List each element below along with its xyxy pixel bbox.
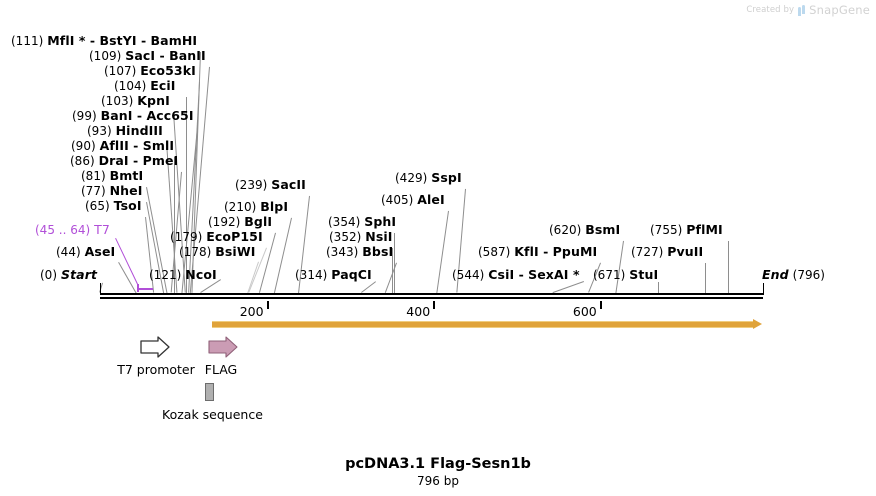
enzyme-position: (104) xyxy=(114,79,146,93)
enzyme-name: TsoI xyxy=(114,198,142,213)
enzyme-position: (99) xyxy=(72,109,97,123)
end-name: End xyxy=(762,267,789,282)
enzyme-position: (121) xyxy=(149,268,181,282)
leader-line xyxy=(728,241,729,293)
leader-line xyxy=(553,281,584,293)
enzyme-label-tsoi[interactable]: (65) TsoI xyxy=(85,200,142,213)
enzyme-label-bsmi[interactable]: (620) BsmI xyxy=(549,224,620,237)
enzyme-name: SexAI * xyxy=(528,267,579,282)
enzyme-label-ecii[interactable]: (104) EciI xyxy=(114,80,176,93)
enzyme-name: SmlI xyxy=(143,138,174,153)
enzyme-label-pvuii[interactable]: (727) PvuII xyxy=(631,246,703,259)
enzyme-position: (352) xyxy=(329,230,361,244)
ruler-tick-label: 600 xyxy=(573,304,600,319)
feature-label-kozak-sequence: Kozak sequence xyxy=(162,407,258,422)
enzyme-name: SacI xyxy=(125,48,155,63)
enzyme-label-bgli[interactable]: (192) BglI xyxy=(208,216,272,229)
enzyme-name: BanI xyxy=(101,108,133,123)
enzyme-name: SspI xyxy=(431,170,461,185)
enzyme-label-stui[interactable]: (671) StuI xyxy=(593,269,658,282)
enzyme-name: KpnI xyxy=(137,93,170,108)
enzyme-label-mfli[interactable]: (111) MflI * - BstYI - BamHI xyxy=(11,35,197,48)
enzyme-label-drai[interactable]: (86) DraI - PmeI xyxy=(70,155,178,168)
enzyme-label-nhei[interactable]: (77) NheI xyxy=(81,185,143,198)
enzyme-label-t7[interactable]: (45 .. 64) T7 xyxy=(35,224,110,237)
end-position: (796) xyxy=(793,268,825,282)
enzyme-position: (314) xyxy=(295,268,327,282)
enzyme-name: PpuMI xyxy=(553,244,598,259)
watermark-brand-label: SnapGene xyxy=(809,3,870,17)
enzyme-position: (587) xyxy=(478,245,510,259)
leader-line xyxy=(436,211,449,293)
enzyme-name: AleI xyxy=(417,192,445,207)
enzyme-position: (755) xyxy=(650,223,682,237)
feature-segment-t7-tick xyxy=(137,284,139,292)
backbone-bottom-strand xyxy=(100,297,763,299)
enzyme-label-kfli[interactable]: (587) KflI - PpuMI xyxy=(478,246,597,259)
enzyme-label-csii[interactable]: (544) CsiI - SexAI * xyxy=(452,269,580,282)
sequence-backbone xyxy=(100,293,763,299)
enzyme-label-pflmi[interactable]: (755) PflMI xyxy=(650,224,723,237)
enzyme-position: (429) xyxy=(395,171,427,185)
leader-line xyxy=(385,263,397,293)
leader-line xyxy=(615,241,624,293)
enzyme-label-ncoi[interactable]: (121) NcoI xyxy=(149,269,217,282)
enzyme-position: (544) xyxy=(452,268,484,282)
enzyme-name: BanII xyxy=(169,48,206,63)
kozak-sequence-block xyxy=(205,383,214,401)
enzyme-label-saci[interactable]: (109) SacI - BanII xyxy=(89,50,206,63)
enzyme-name: NsiI xyxy=(365,229,392,244)
enzyme-name: StuI xyxy=(629,267,658,282)
enzyme-position: (210) xyxy=(224,200,256,214)
enzyme-name: MflI * xyxy=(47,33,85,48)
enzyme-label-eco53ki[interactable]: (107) Eco53kI xyxy=(104,65,196,78)
enzyme-label-ecop15i[interactable]: (179) EcoP15I xyxy=(170,231,263,244)
enzyme-name: AseI xyxy=(85,244,116,259)
enzyme-label-aflii[interactable]: (90) AflII - SmlI xyxy=(71,140,174,153)
ruler-tick xyxy=(433,301,435,309)
enzyme-name: EcoP15I xyxy=(206,229,262,244)
snapgene-watermark: Created by SnapGene xyxy=(746,3,870,17)
enzyme-name: BamHI xyxy=(151,33,198,48)
sequence-start-label: (0) Start xyxy=(40,269,97,282)
enzyme-position: (45 .. 64) xyxy=(35,223,90,237)
enzyme-label-paqci[interactable]: (314) PaqCI xyxy=(295,269,372,282)
enzyme-label-bani[interactable]: (99) BanI - Acc65I xyxy=(72,110,194,123)
enzyme-position: (65) xyxy=(85,199,110,213)
enzyme-name: SphI xyxy=(364,214,396,229)
enzyme-position: (179) xyxy=(170,230,202,244)
enzyme-label-hindiii[interactable]: (93) HindIII xyxy=(87,125,163,138)
orf-arrow-body xyxy=(212,321,754,328)
enzyme-name: SacII xyxy=(271,177,306,192)
orf-arrow xyxy=(212,321,762,328)
arrow-right-icon xyxy=(208,336,238,358)
enzyme-name: BlpI xyxy=(260,199,288,214)
backbone-top-strand xyxy=(100,293,763,295)
enzyme-name: PflMI xyxy=(686,222,722,237)
enzyme-position: (86) xyxy=(70,154,95,168)
orf-arrow-head xyxy=(753,319,762,329)
page-title: pcDNA3.1 Flag-Sesn1b xyxy=(0,456,876,472)
enzyme-position: (81) xyxy=(81,169,106,183)
enzyme-name: CsiI xyxy=(488,267,514,282)
enzyme-position: (620) xyxy=(549,223,581,237)
feature-label-flag: FLAG xyxy=(186,362,256,377)
leader-line xyxy=(361,281,376,293)
enzyme-position: (354) xyxy=(328,215,360,229)
enzyme-separator: - xyxy=(514,267,528,282)
enzyme-name: PaqCI xyxy=(331,267,372,282)
enzyme-label-asei[interactable]: (44) AseI xyxy=(56,246,115,259)
enzyme-separator: - xyxy=(133,108,147,123)
enzyme-name: AflII xyxy=(100,138,129,153)
enzyme-position: (90) xyxy=(71,139,96,153)
enzyme-label-sphi[interactable]: (354) SphI xyxy=(328,216,396,229)
enzyme-name: T7 xyxy=(94,222,110,237)
enzyme-name: BglI xyxy=(244,214,272,229)
enzyme-label-kpni[interactable]: (103) KpnI xyxy=(101,95,170,108)
enzyme-separator: - xyxy=(155,48,169,63)
enzyme-separator: - xyxy=(129,138,143,153)
ruler-tick-label: 400 xyxy=(406,304,433,319)
enzyme-position: (93) xyxy=(87,124,112,138)
enzyme-label-bsiwi[interactable]: (178) BsiWI xyxy=(179,246,255,259)
leader-line xyxy=(394,233,395,293)
leader-line xyxy=(186,97,187,293)
enzyme-label-alei[interactable]: (405) AleI xyxy=(381,194,445,207)
enzyme-name: EciI xyxy=(150,78,175,93)
start-position: (0) xyxy=(40,268,57,282)
enzyme-name: NcoI xyxy=(185,267,217,282)
enzyme-position: (192) xyxy=(208,215,240,229)
enzyme-name: BmtI xyxy=(110,168,144,183)
enzyme-name: BsmI xyxy=(585,222,620,237)
ruler-tick xyxy=(267,301,269,309)
enzyme-position: (77) xyxy=(81,184,106,198)
enzyme-separator: - xyxy=(86,33,100,48)
leader-line xyxy=(705,263,706,293)
page-subtitle: 796 bp xyxy=(0,474,876,488)
snapgene-logo-icon xyxy=(798,5,805,16)
leader-line xyxy=(658,282,659,293)
enzyme-name: BbsI xyxy=(362,244,393,259)
enzyme-name: KflI xyxy=(514,244,538,259)
enzyme-position: (109) xyxy=(89,49,121,63)
arrow-right-icon xyxy=(140,336,170,358)
enzyme-label-nsii[interactable]: (352) NsiI xyxy=(329,231,393,244)
enzyme-position: (178) xyxy=(179,245,211,259)
enzyme-position: (405) xyxy=(381,193,413,207)
enzyme-name: BstYI xyxy=(99,33,136,48)
enzyme-name: BsiWI xyxy=(215,244,255,259)
enzyme-separator: - xyxy=(137,33,151,48)
feature-segment-t7[interactable] xyxy=(137,288,153,290)
enzyme-position: (671) xyxy=(593,268,625,282)
enzyme-position: (727) xyxy=(631,245,663,259)
watermark-created-by-label: Created by xyxy=(746,5,794,15)
ruler-tick xyxy=(600,301,602,309)
leader-line xyxy=(274,218,292,293)
enzyme-label-bmti[interactable]: (81) BmtI xyxy=(81,170,143,183)
enzyme-separator: - xyxy=(129,153,143,168)
snapgene-sequence-map: Created by SnapGene (111) MflI * - BstYI… xyxy=(0,0,876,496)
enzyme-position: (111) xyxy=(11,34,43,48)
sequence-end-label: End (796) xyxy=(762,269,825,282)
enzyme-name: Acc65I xyxy=(146,108,193,123)
enzyme-name: DraI xyxy=(99,153,129,168)
enzyme-label-sacii[interactable]: (239) SacII xyxy=(235,179,306,192)
enzyme-position: (343) xyxy=(326,245,358,259)
enzyme-name: Eco53kI xyxy=(140,63,196,78)
enzyme-position: (103) xyxy=(101,94,133,108)
ruler-tick-label: 200 xyxy=(240,304,267,319)
enzyme-position: (107) xyxy=(104,64,136,78)
enzyme-name: HindIII xyxy=(116,123,163,138)
enzyme-separator: - xyxy=(539,244,553,259)
start-name: Start xyxy=(61,267,97,282)
enzyme-label-bbsi[interactable]: (343) BbsI xyxy=(326,246,393,259)
enzyme-position: (239) xyxy=(235,178,267,192)
enzyme-position: (44) xyxy=(56,245,81,259)
enzyme-name: NheI xyxy=(110,183,143,198)
enzyme-label-sspi[interactable]: (429) SspI xyxy=(395,172,462,185)
enzyme-name: PmeI xyxy=(143,153,179,168)
backbone-right-cap xyxy=(763,283,764,295)
enzyme-name: PvuII xyxy=(667,244,703,259)
enzyme-label-blpi[interactable]: (210) BlpI xyxy=(224,201,288,214)
